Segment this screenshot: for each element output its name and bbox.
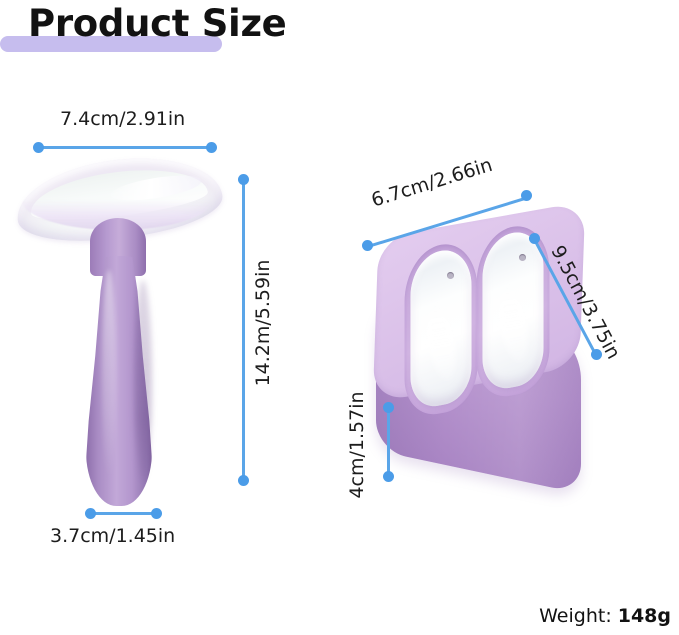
measurement-label-base-width: 3.7cm/1.45in [50, 525, 175, 547]
measurement-endpoint-right [206, 142, 217, 153]
measurement-line-width-top [40, 146, 212, 149]
measurement-endpoint-top [238, 174, 249, 185]
massager-handle-highlight [102, 270, 116, 480]
measurement-line-base-width [92, 512, 156, 515]
measurement-endpoint-bottom [383, 471, 394, 482]
capsule-right-port [519, 254, 526, 261]
measurement-label-width-top: 7.4cm/2.91in [60, 108, 185, 130]
measurement-endpoint-left [85, 508, 96, 519]
measurement-line-case-height [387, 408, 390, 476]
weight-label: Weight: [539, 605, 612, 627]
measurement-endpoint-upper-right [521, 190, 532, 201]
page-title: Product Size [0, 2, 360, 54]
product-image-neck-massager [14, 160, 224, 505]
capsule-left-port [447, 272, 454, 279]
page-title-text: Product Size [28, 2, 286, 46]
measurement-endpoint-bottom [238, 475, 249, 486]
product-size-infographic: Product Size 7.4cm/2.91in 14.2m/5.59in 3… [0, 0, 679, 635]
measurement-endpoint-right [151, 508, 162, 519]
weight-readout: Weight:148g [539, 605, 671, 627]
weight-value: 148g [618, 605, 671, 627]
measurement-endpoint-lower-left [362, 240, 373, 251]
measurement-endpoint-top [383, 402, 394, 413]
measurement-label-case-width: 6.7cm/2.66in [369, 154, 495, 212]
massager-handle-shadow [134, 280, 152, 480]
measurement-line-height [242, 180, 245, 480]
measurement-label-height: 14.2m/5.59in [252, 248, 274, 398]
measurement-endpoint-upper-left [529, 233, 540, 244]
measurement-endpoint-left [33, 142, 44, 153]
measurement-label-case-height: 4cm/1.57in [346, 385, 368, 505]
